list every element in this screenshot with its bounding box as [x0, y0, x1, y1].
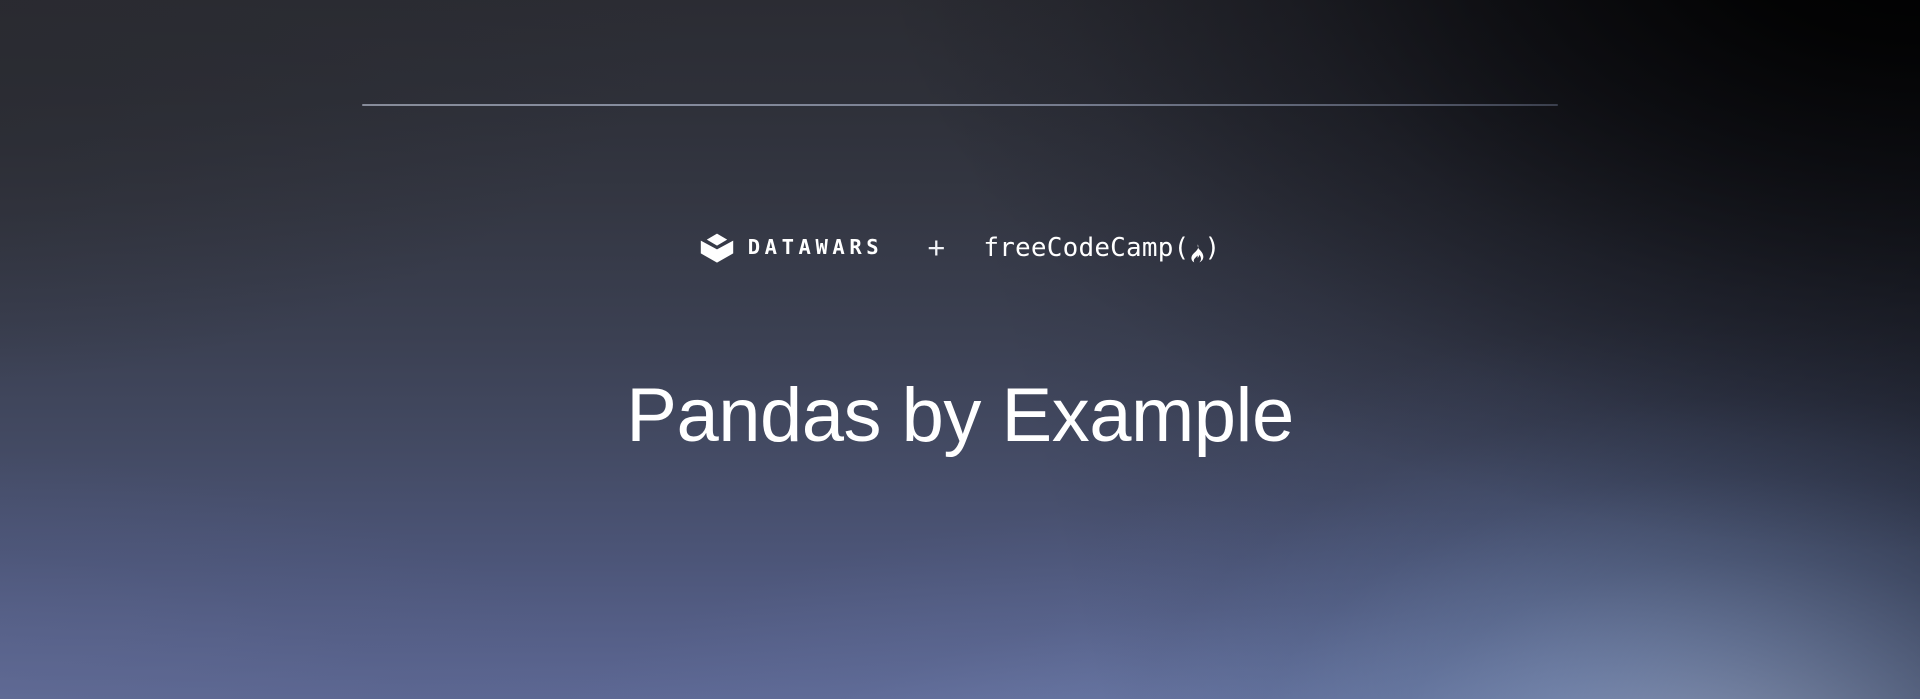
- brand-lockup-row: DATAWARS + freeCodeCamp ( ): [0, 232, 1920, 263]
- hero-banner: DATAWARS + freeCodeCamp ( ) Pandas by Ex…: [0, 0, 1920, 699]
- page-title: Pandas by Example: [0, 376, 1920, 457]
- datawars-brand[interactable]: DATAWARS: [700, 233, 884, 263]
- brand-separator-plus: +: [927, 232, 945, 263]
- flame-icon: [1189, 239, 1204, 258]
- freecodecamp-open-paren: (: [1174, 235, 1190, 261]
- freecodecamp-wordmark: freeCodeCamp: [983, 235, 1173, 261]
- hero-content: DATAWARS + freeCodeCamp ( ) Pandas by Ex…: [0, 0, 1920, 699]
- freecodecamp-brand[interactable]: freeCodeCamp ( ): [983, 235, 1220, 261]
- datawars-wordmark: DATAWARS: [748, 237, 884, 258]
- datawars-box-logo-icon: [700, 233, 734, 263]
- horizontal-rule: [362, 104, 1558, 106]
- freecodecamp-close-paren: ): [1204, 235, 1220, 261]
